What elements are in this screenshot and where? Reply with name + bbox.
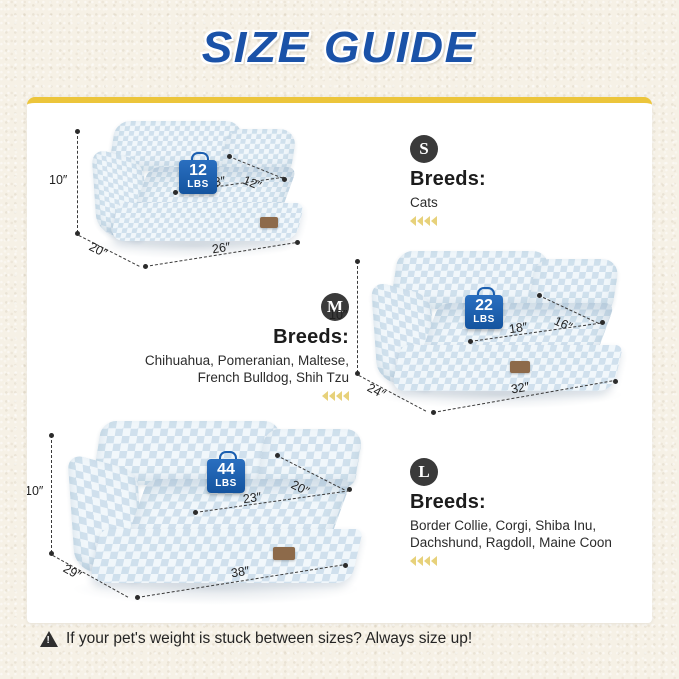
breeds-label-m: Breeds:: [39, 326, 349, 349]
weight-badge-body: 22 LBS: [465, 295, 503, 329]
dim-dot: [468, 339, 473, 344]
dim-line-height-small: [77, 131, 78, 233]
breeds-list-m-line1: Chihuahua, Pomeranian, Maltese,: [39, 352, 349, 369]
dim-dot: [173, 190, 178, 195]
dim-dot: [143, 264, 148, 269]
bed-illustration-medium: [352, 251, 637, 411]
warning-triangle-icon: [40, 631, 58, 647]
content-panel: 10″ 12″ 13″ 20″ 26″ 12 LBS S Breeds: Cat…: [27, 97, 652, 623]
weight-value: 22: [465, 295, 503, 314]
weight-value: 12: [179, 160, 217, 179]
size-info-medium: M Breeds: Chihuahua, Pomeranian, Maltese…: [39, 293, 349, 401]
weight-value: 44: [207, 459, 245, 478]
dim-dot: [343, 563, 348, 568]
size-info-large: L Breeds: Border Collie, Corgi, Shiba In…: [410, 458, 640, 566]
brand-tag: [273, 547, 295, 560]
dim-dot: [135, 595, 140, 600]
dim-dot: [193, 510, 198, 515]
dim-dot: [295, 240, 300, 245]
weight-unit: LBS: [207, 478, 245, 489]
weight-unit: LBS: [465, 314, 503, 325]
weight-badge-small: 12 LBS: [179, 152, 217, 194]
breeds-label-s: Breeds:: [410, 168, 620, 191]
chevron-left-icon: [39, 391, 349, 401]
brand-tag: [510, 361, 530, 373]
size-badge-l: L: [410, 458, 438, 486]
chevron-left-icon: [410, 216, 620, 226]
dim-dot: [431, 410, 436, 415]
footer-note: If your pet's weight is stuck between si…: [40, 630, 472, 648]
dim-label-inner-width-medium: 18″: [508, 320, 528, 336]
breeds-list-s: Cats: [410, 194, 620, 211]
dim-line-height-large: [51, 435, 52, 553]
brand-tag: [260, 217, 278, 228]
dim-label-outer-width-small: 26″: [211, 240, 231, 257]
page-title: SIZE GUIDE: [202, 23, 477, 73]
dim-dot: [275, 453, 280, 458]
breeds-list-l-line1: Border Collie, Corgi, Shiba Inu,: [410, 517, 640, 534]
weight-unit: LBS: [179, 179, 217, 190]
dim-dot: [49, 433, 54, 438]
dim-label-height-medium: 10″: [329, 308, 347, 322]
dim-dot: [75, 129, 80, 134]
breeds-label-l: Breeds:: [410, 491, 640, 514]
size-info-small: S Breeds: Cats: [410, 135, 620, 226]
breeds-list-l-line2: Dachshund, Ragdoll, Maine Coon: [410, 534, 640, 551]
weight-badge-body: 44 LBS: [207, 459, 245, 493]
dim-dot: [613, 379, 618, 384]
breeds-list-m-line2: French Bulldog, Shih Tzu: [39, 369, 349, 386]
weight-badge-body: 12 LBS: [179, 160, 217, 194]
dim-label-height-small: 10″: [49, 173, 67, 187]
dim-dot: [537, 293, 542, 298]
weight-badge-large: 44 LBS: [207, 451, 245, 493]
header: SIZE GUIDE: [0, 0, 679, 96]
dim-dot: [227, 154, 232, 159]
dim-dot: [355, 259, 360, 264]
size-badge-s: S: [410, 135, 438, 163]
footer-text: If your pet's weight is stuck between si…: [66, 630, 472, 648]
bed-base-front: [89, 529, 363, 583]
chevron-left-icon: [410, 556, 640, 566]
dim-label-inner-width-large: 23″: [242, 490, 262, 506]
dim-line-height-medium: [357, 261, 358, 373]
dim-label-height-large: 10″: [27, 484, 43, 498]
weight-badge-medium: 22 LBS: [465, 287, 503, 329]
dim-label-outer-width-large: 38″: [230, 564, 250, 581]
